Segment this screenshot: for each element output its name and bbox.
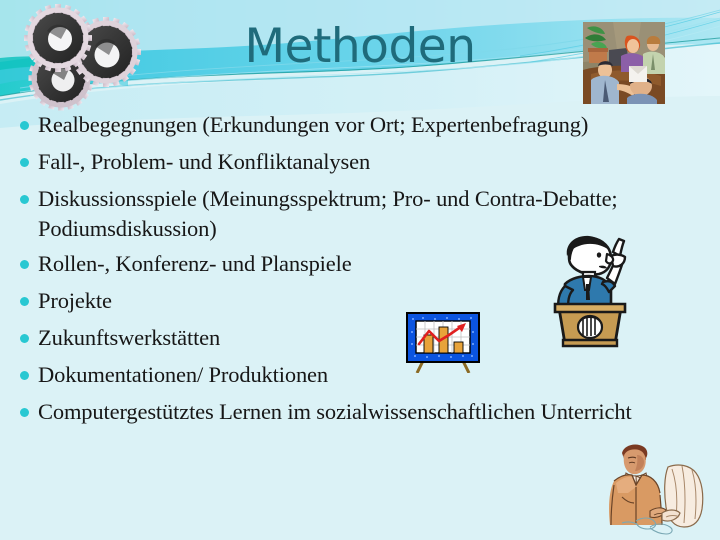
bullet-dot-icon: [14, 110, 38, 140]
gears-icon: [6, 2, 156, 114]
list-item-label: Computergestütztes Lernen im sozialwisse…: [38, 397, 704, 427]
speaker-at-podium-icon: [545, 232, 635, 348]
list-item-label: Realbegegnungen (Erkundungen vor Ort; Ex…: [38, 110, 704, 140]
list-item: Dokumentationen/ Produktionen: [14, 360, 704, 390]
list-item-label: Fall-, Problem- und Konfliktanalysen: [38, 147, 704, 177]
conversation-sketch-image: [592, 437, 712, 537]
flipchart-bar-chart-icon: [405, 311, 481, 373]
bullet-dot-icon: [14, 360, 38, 390]
list-item: Fall-, Problem- und Konfliktanalysen: [14, 147, 704, 177]
meeting-photo-image: [583, 22, 665, 104]
bullet-dot-icon: [14, 397, 38, 427]
bullet-dot-icon: [14, 286, 38, 316]
bullet-dot-icon: [14, 147, 38, 177]
bullet-dot-icon: [14, 249, 38, 279]
slide-canvas: Methoden: [0, 0, 720, 540]
bullet-dot-icon: [14, 323, 38, 353]
list-item: Computergestütztes Lernen im sozialwisse…: [14, 397, 704, 427]
bullet-dot-icon: [14, 184, 38, 214]
list-item: Realbegegnungen (Erkundungen vor Ort; Ex…: [14, 110, 704, 140]
list-item-label: Dokumentationen/ Produktionen: [38, 360, 704, 390]
